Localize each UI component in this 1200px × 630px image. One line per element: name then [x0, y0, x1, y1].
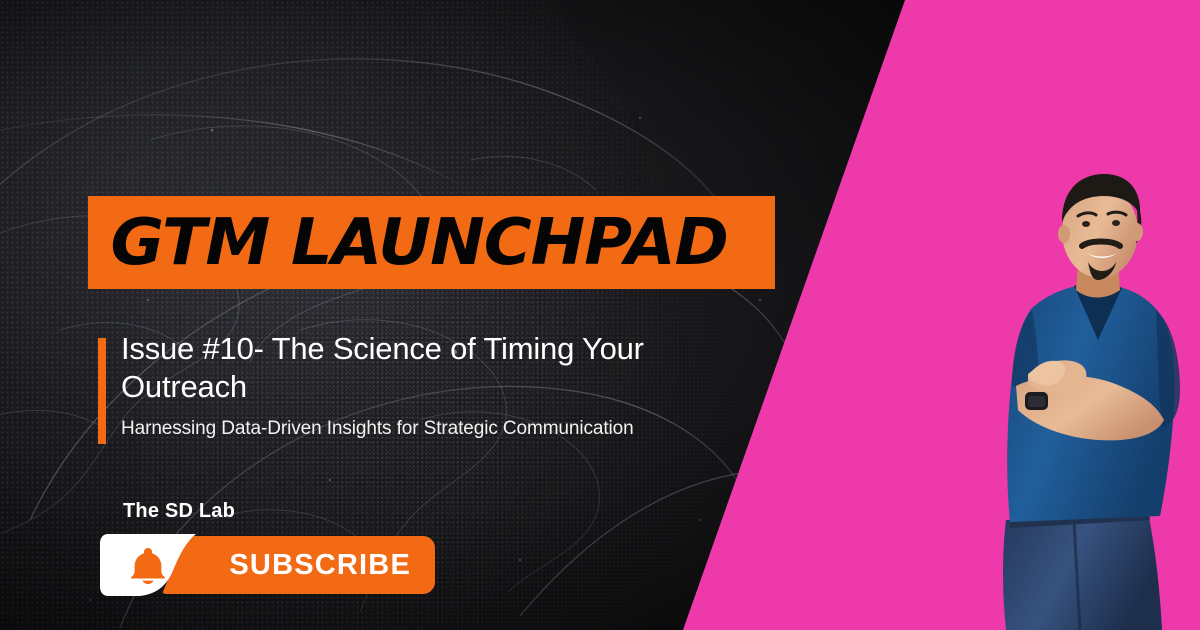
subscribe-button-label: SUBSCRIBE: [229, 549, 435, 582]
jeans: [1003, 512, 1162, 630]
orange-accent-bar: [98, 338, 106, 444]
subscribe-widget[interactable]: SUBSCRIBE: [100, 534, 435, 596]
issue-tagline: Harnessing Data-Driven Insights for Stra…: [121, 417, 761, 442]
bell-icon[interactable]: [131, 548, 165, 584]
brand-name: The SD Lab: [123, 500, 235, 523]
page-title: GTM LAUNCHPAD: [88, 211, 728, 275]
content-area: GTM LAUNCHPAD Issue #10- The Science of …: [0, 0, 820, 630]
eye-left: [1082, 221, 1090, 227]
presenter-photo: [970, 160, 1200, 630]
newsletter-banner: GTM LAUNCHPAD Issue #10- The Science of …: [0, 0, 1200, 630]
eye-right: [1112, 220, 1120, 226]
title-banner: GTM LAUNCHPAD: [88, 196, 775, 289]
issue-headline: Issue #10- The Science of Timing Your Ou…: [121, 330, 721, 407]
